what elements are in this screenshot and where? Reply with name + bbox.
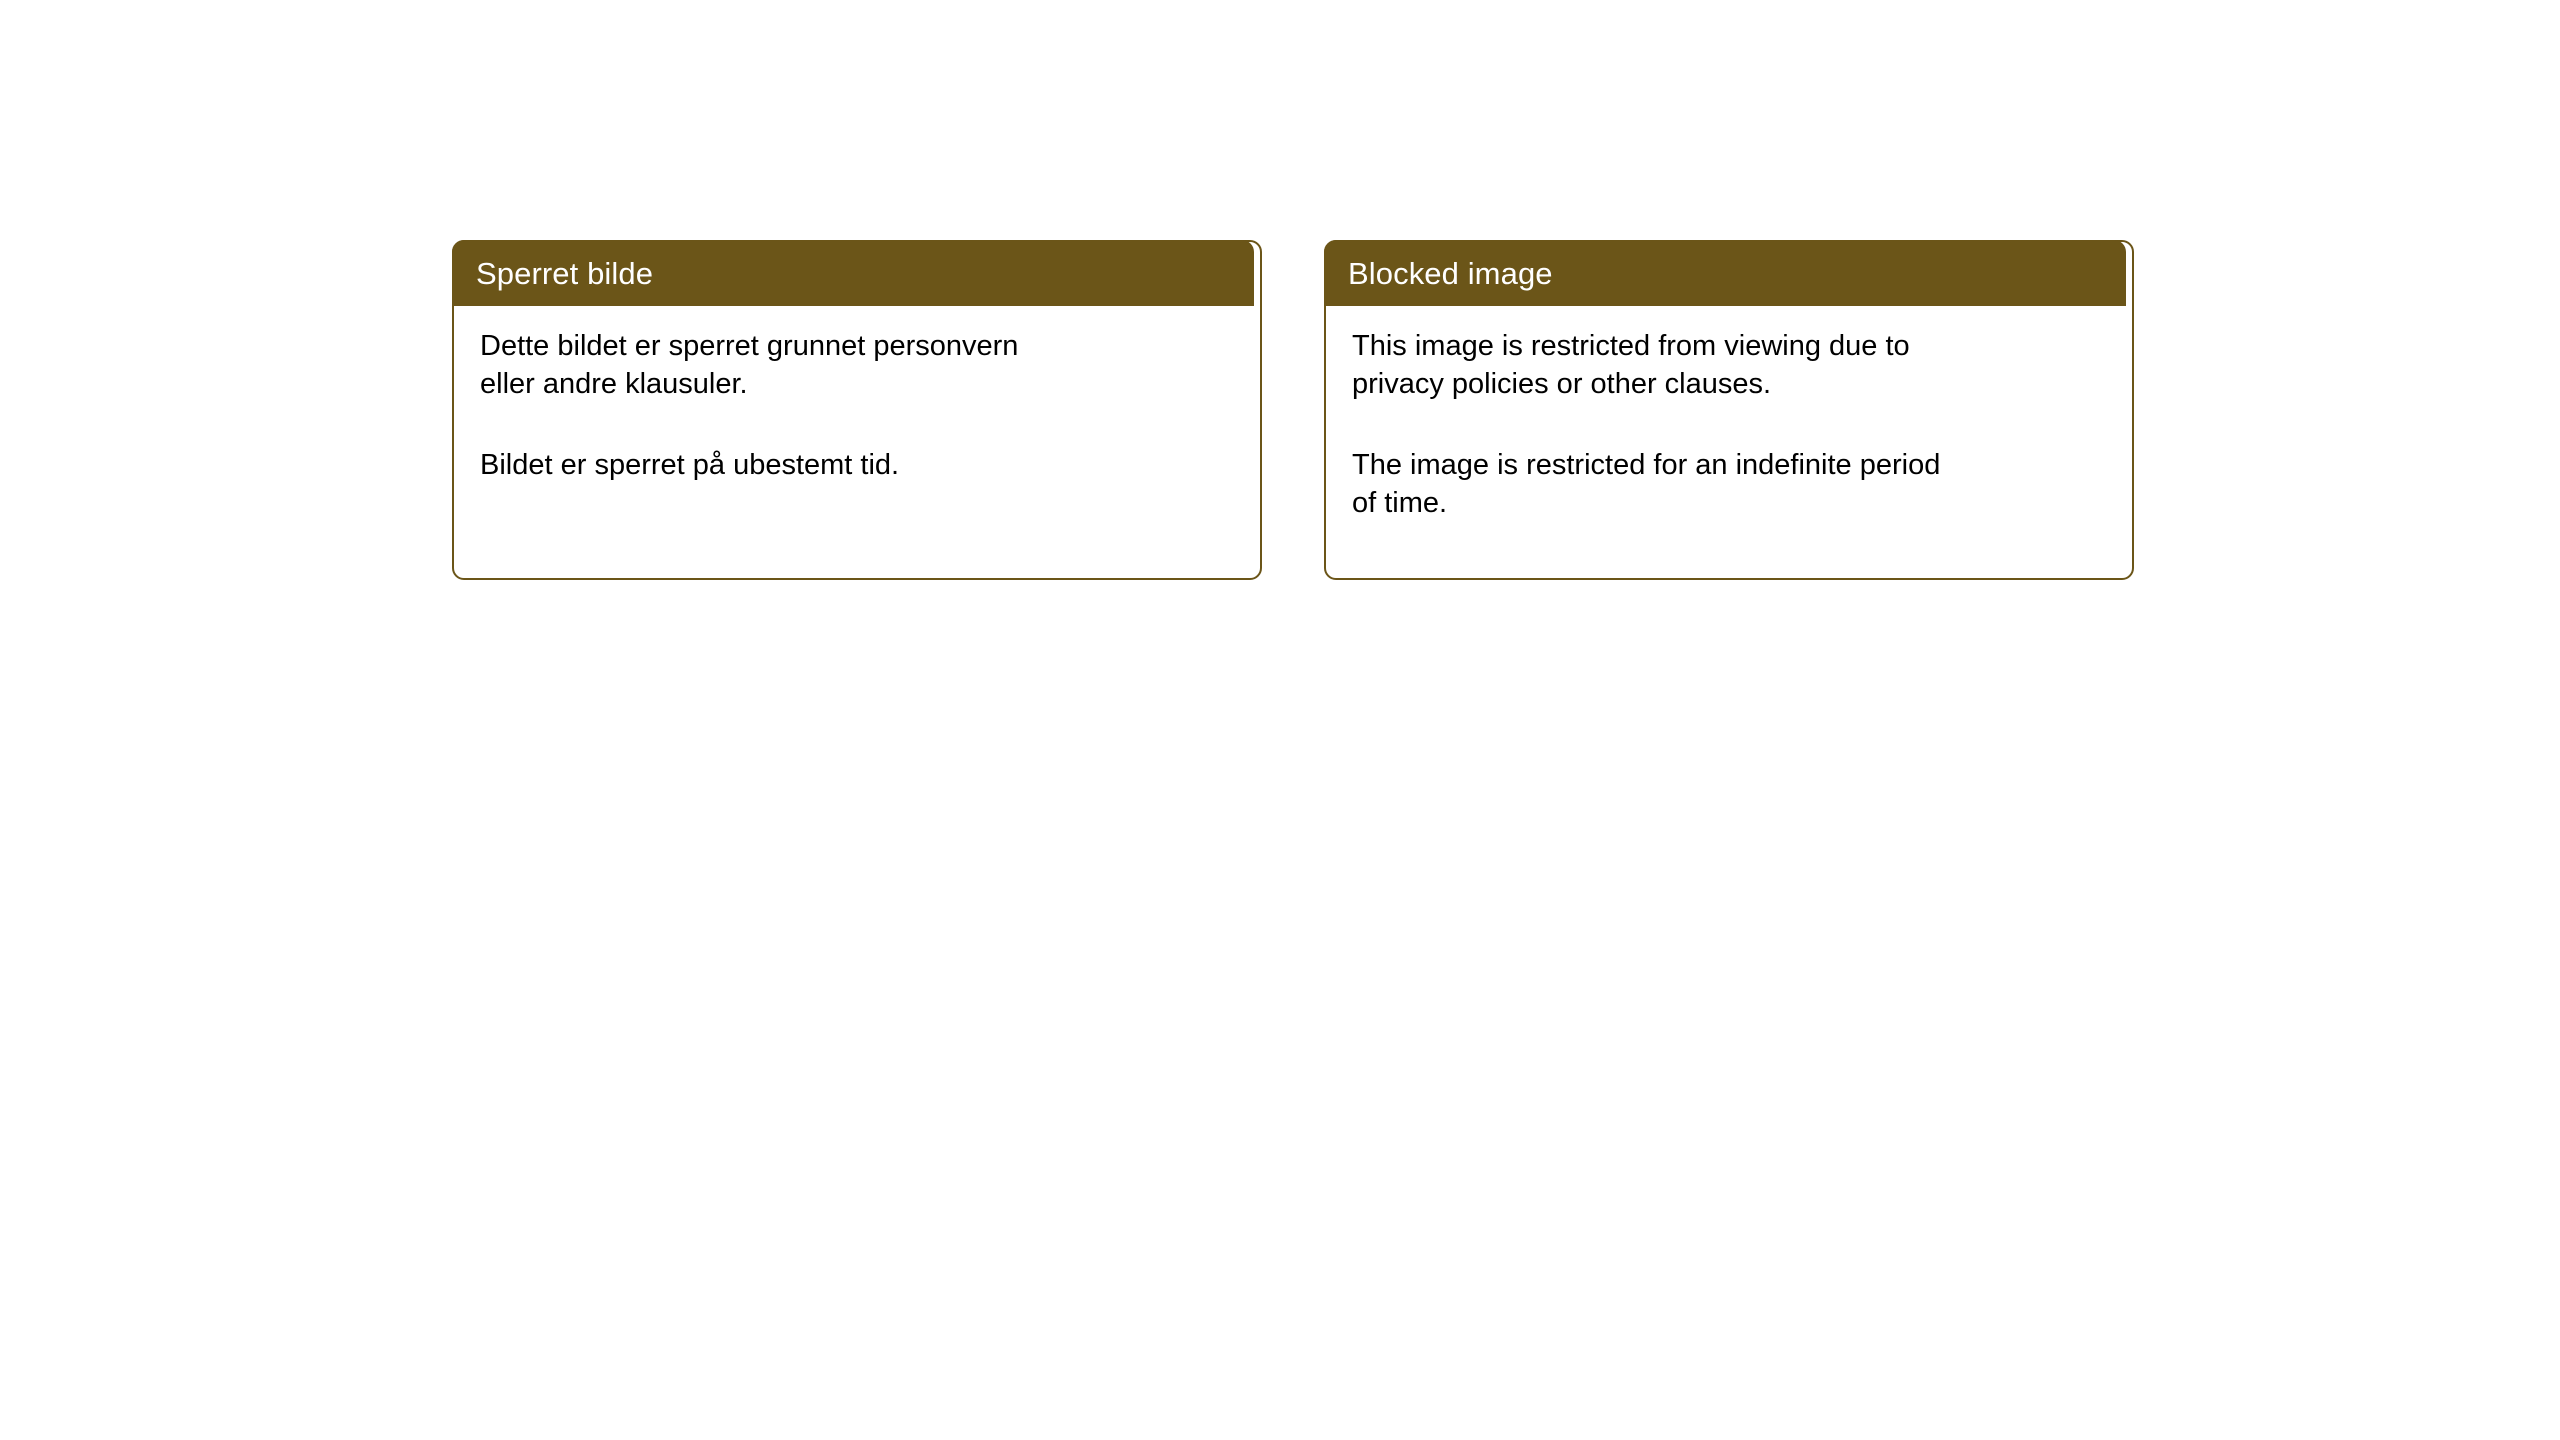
card-paragraph-duration-norwegian: Bildet er sperret på ubestemt tid. <box>480 447 1234 485</box>
card-paragraph-duration-english: The image is restricted for an indefinit… <box>1352 447 2106 523</box>
card-title-english: Blocked image <box>1348 258 1553 289</box>
blocked-image-notice-group: Sperret bilde Dette bildet er sperret gr… <box>452 240 2134 580</box>
card-header-norwegian: Sperret bilde <box>452 240 1254 306</box>
card-header-english: Blocked image <box>1324 240 2126 306</box>
blocked-image-card-norwegian: Sperret bilde Dette bildet er sperret gr… <box>452 240 1262 580</box>
card-title-norwegian: Sperret bilde <box>476 258 653 289</box>
card-paragraph-reason-english: This image is restricted from viewing du… <box>1352 328 2106 404</box>
card-body-english: This image is restricted from viewing du… <box>1326 308 2132 578</box>
card-body-norwegian: Dette bildet er sperret grunnet personve… <box>454 308 1260 578</box>
blocked-image-card-english: Blocked image This image is restricted f… <box>1324 240 2134 580</box>
card-paragraph-reason-norwegian: Dette bildet er sperret grunnet personve… <box>480 328 1234 404</box>
